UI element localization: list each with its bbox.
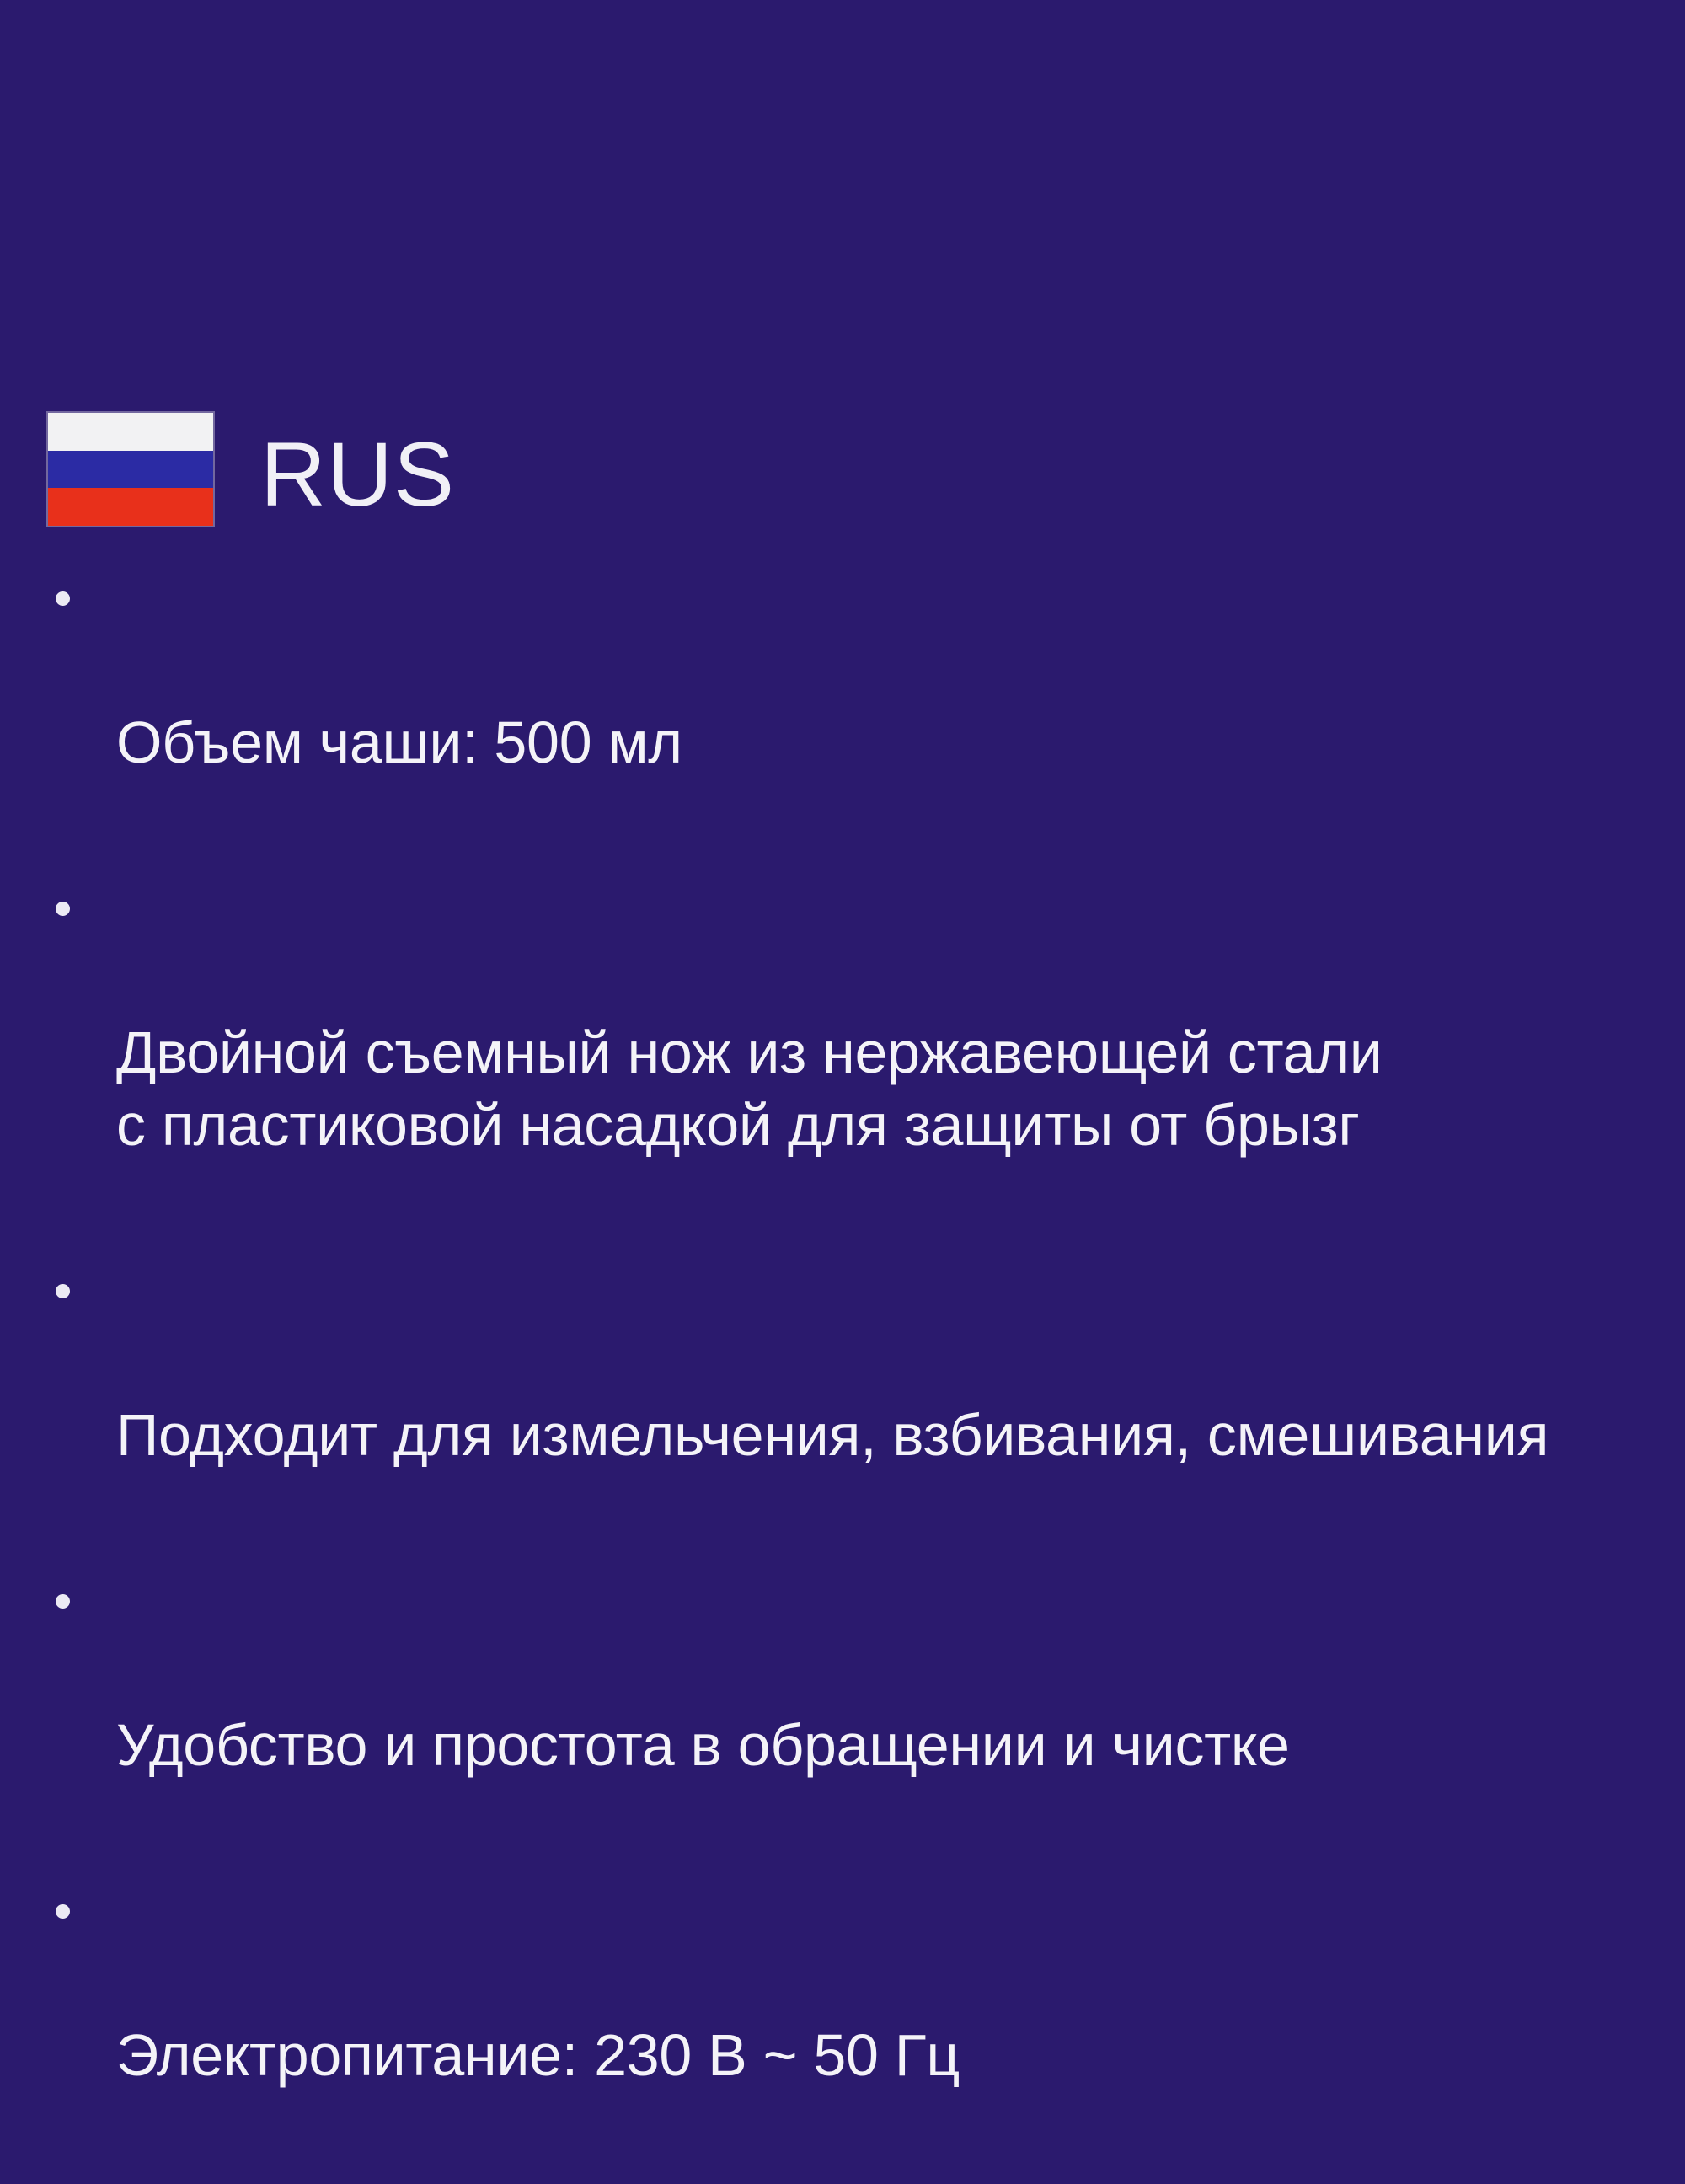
list-item: Объем чаши: 500 мл <box>39 561 1673 851</box>
list-item: Электропитание: 230 В ~ 50 Гц <box>39 1874 1673 2164</box>
bullet-dot-icon <box>56 902 70 916</box>
feature-text: Электропитание: 230 В ~ 50 Гц <box>116 2019 1673 2091</box>
russia-flag-icon <box>48 413 213 526</box>
bullet-dot-icon <box>56 1594 70 1609</box>
bullet-dot-icon <box>56 1284 70 1298</box>
language-code-label: RUS <box>260 429 455 520</box>
feature-text: Двойной съемный нож из нержавеющей стали… <box>116 1016 1673 1161</box>
list-item: Удобство и простота в обращении и чистке <box>39 1564 1673 1854</box>
list-item: Подходит для измельчения, взбивания, сме… <box>39 1254 1673 1544</box>
flag-stripe-blue <box>48 451 213 489</box>
list-item: Двойной съемный нож из нержавеющей стали… <box>39 871 1673 1234</box>
flag-stripe-red <box>48 488 213 526</box>
bullet-dot-icon <box>56 1904 70 1919</box>
flag-stripe-white <box>48 413 213 451</box>
feature-text: Удобство и простота в обращении и чистке <box>116 1709 1673 1781</box>
language-header: RUS <box>48 413 455 526</box>
feature-text: Объем чаши: 500 мл <box>116 706 1673 779</box>
feature-list: Объем чаши: 500 мл Двойной съемный нож и… <box>39 561 1673 2184</box>
product-label-panel: RUS Объем чаши: 500 мл Двойной съемный н… <box>0 0 1685 1685</box>
feature-text: Подходит для измельчения, взбивания, сме… <box>116 1399 1673 1471</box>
bullet-dot-icon <box>56 591 70 606</box>
